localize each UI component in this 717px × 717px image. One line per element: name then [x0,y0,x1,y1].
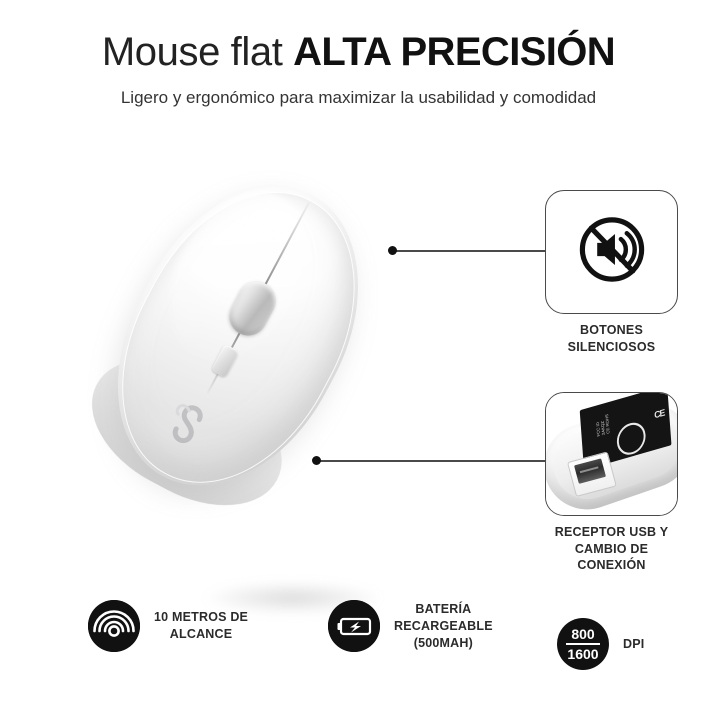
callout-label-usb-receiver: RECEPTOR USB Y CAMBIO DE CONEXIÓN [523,524,700,574]
usb-dongle [574,458,606,484]
callout-label-line: SILENCIOSOS [523,339,700,356]
callout-label-line: BOTONES [523,322,700,339]
ce-mark: CE [654,407,665,420]
feature-label-range: 10 METROS DE ALCANCE [154,609,248,643]
usb-dongle-contact [580,466,599,473]
leader-dot-silent-buttons [388,246,397,255]
rechargeable-battery-icon [328,600,380,652]
callout-box-usb-receiver: FCC ID 2AKQZ CE ROHS CE [545,392,678,516]
feature-dpi: 800 1600 DPI [557,618,644,670]
feature-label-line: 10 METROS DE [154,609,248,626]
dpi-values: 800 1600 [557,618,609,670]
dpi-low-value: 800 [571,627,594,642]
regulatory-label-text: FCC ID 2AKQZ CE ROHS [592,392,611,437]
callout-box-silent-buttons [545,190,678,314]
leader-dot-usb-receiver [312,456,321,465]
feature-label-line: (500MAH) [394,635,493,652]
feature-label-dpi: DPI [623,636,644,653]
dpi-value-icon: 800 1600 [557,618,609,670]
page-subtitle: Ligero y ergonómico para maximizar la us… [0,86,717,110]
callout-label-silent-buttons: BOTONES SILENCIOSOS [523,322,700,355]
wireless-signal-icon [88,600,140,652]
dpi-high-value: 1600 [567,647,598,662]
mute-speaker-icon [575,213,649,292]
callout-label-line: CAMBIO DE [523,541,700,558]
page-title: Mouse flat ALTA PRECISIÓN [0,28,717,76]
feature-label-line: BATERÍA [394,601,493,618]
feature-label-line: RECARGEABLE [394,618,493,635]
feature-row: 10 METROS DE ALCANCE BATERÍA RECARGEABLE… [0,600,717,700]
feature-range: 10 METROS DE ALCANCE [88,600,248,652]
leader-line-silent-buttons [392,250,546,252]
callout-silent-buttons: BOTONES SILENCIOSOS [545,190,678,314]
title-light-part: Mouse flat [102,30,293,74]
usb-receiver-photo: FCC ID 2AKQZ CE ROHS CE [546,393,677,515]
callout-label-line: CONEXIÓN [523,557,700,574]
leader-line-usb-receiver [316,460,546,462]
callout-label-line: RECEPTOR USB Y [523,524,700,541]
dpi-divider [566,643,600,645]
feature-label-line: ALCANCE [154,626,248,643]
product-infographic: Mouse flat ALTA PRECISIÓN Ligero y ergon… [0,0,717,717]
mouse-underside: FCC ID 2AKQZ CE ROHS CE [545,392,678,516]
callout-usb-receiver: FCC ID 2AKQZ CE ROHS CE RECEPTOR USB Y C… [545,392,678,516]
feature-label-battery: BATERÍA RECARGEABLE (500MAH) [394,601,493,652]
feature-battery: BATERÍA RECARGEABLE (500MAH) [328,600,493,652]
title-bold-part: ALTA PRECISIÓN [293,30,615,74]
label-ring-mark [616,419,647,458]
mouse-body [72,147,405,525]
